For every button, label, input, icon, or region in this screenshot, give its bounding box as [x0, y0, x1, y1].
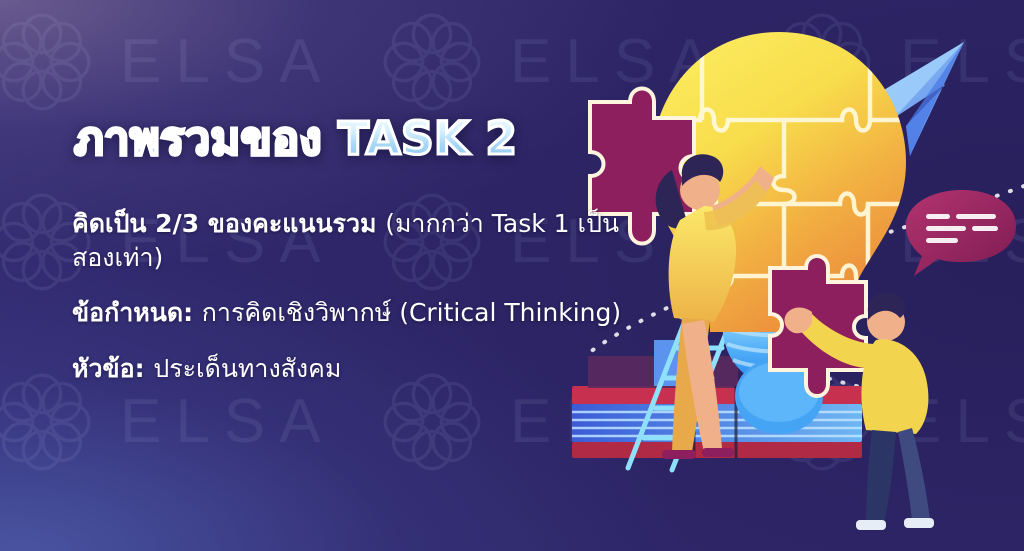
watermark-tile: ELSA: [0, 370, 335, 474]
watermark-word: ELSA: [120, 31, 335, 93]
slide-root: ELSA ELSA ELSA: [0, 0, 1024, 551]
page-title: ภาพรวมของ TASK 2: [74, 116, 517, 161]
bullet-topic: หัวข้อ: ประเด็นทางสังคม: [72, 352, 632, 386]
body-copy: คิดเป็น 2/3 ของคะแนนรวม (มากกว่า Task 1 …: [72, 207, 632, 385]
elsa-star-rosette-icon: [0, 370, 94, 474]
speech-bubble: [906, 190, 1016, 276]
bullet-regular-text: ประเด็นทางสังคม: [153, 354, 341, 383]
bullet-requirement: ข้อกำหนด: การคิดเชิงวิพากษ์ (Critical Th…: [72, 296, 632, 330]
elsa-star-rosette-icon: [0, 10, 94, 114]
watermark-tile: ELSA: [0, 10, 335, 114]
watermark-word: ELSA: [120, 391, 335, 453]
bullet-score-weight: คิดเป็น 2/3 ของคะแนนรวม (มากกว่า Task 1 …: [72, 207, 632, 274]
bullet-bold-text: คิดเป็น 2/3 ของคะแนนรวม: [72, 209, 385, 238]
elsa-star-rosette-icon: [380, 370, 484, 474]
bullet-bold-text: ข้อกำหนด:: [72, 298, 202, 327]
bullet-regular-text: การคิดเชิงวิพากษ์ (Critical Thinking): [202, 298, 621, 327]
bullet-bold-text: หัวข้อ:: [72, 354, 153, 383]
elsa-star-rosette-icon: [380, 10, 484, 114]
